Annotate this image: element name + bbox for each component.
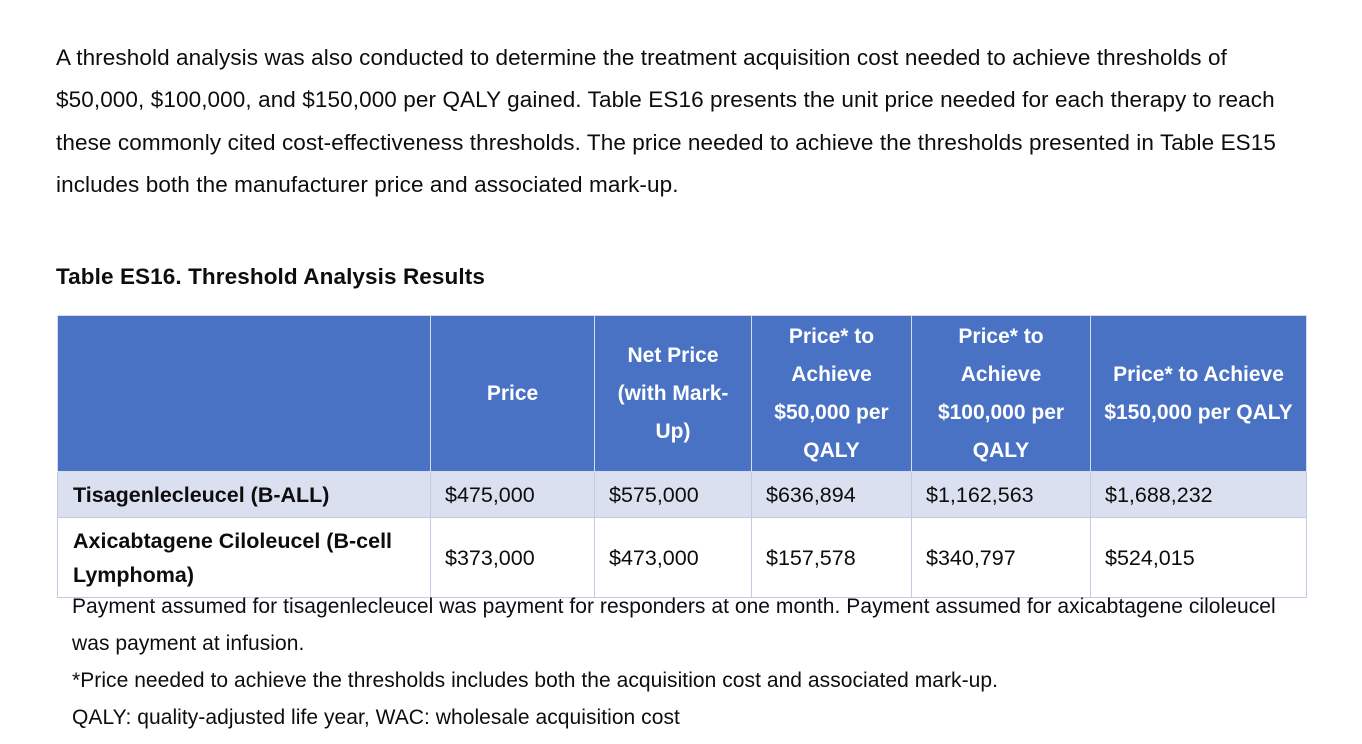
- cell-threshold-100k: $340,797: [912, 518, 1091, 598]
- intro-paragraph: A threshold analysis was also conducted …: [56, 37, 1318, 207]
- table-body: Tisagenlecleucel (B-ALL) $475,000 $575,0…: [58, 472, 1307, 598]
- cell-price: $373,000: [431, 518, 595, 598]
- cell-price: $475,000: [431, 472, 595, 518]
- cell-threshold-100k: $1,162,563: [912, 472, 1091, 518]
- cell-therapy-name: Axicabtagene Ciloleucel (B-cell Lymphoma…: [58, 518, 431, 598]
- cell-threshold-50k: $157,578: [752, 518, 912, 598]
- column-header-net-price: Net Price (with Mark-Up): [595, 316, 752, 472]
- column-header-threshold-50k: Price* to Achieve $50,000 per QALY: [752, 316, 912, 472]
- cell-net-price: $575,000: [595, 472, 752, 518]
- table-header-row: Price Net Price (with Mark-Up) Price* to…: [58, 316, 1307, 472]
- table-caption: Table ES16. Threshold Analysis Results: [56, 262, 485, 292]
- column-header-therapy: [58, 316, 431, 472]
- footnote-price-asterisk: *Price needed to achieve the thresholds …: [72, 662, 1302, 699]
- table-header: Price Net Price (with Mark-Up) Price* to…: [58, 316, 1307, 472]
- column-header-threshold-100k: Price* to Achieve $100,000 per QALY: [912, 316, 1091, 472]
- footnote-payment-assumption: Payment assumed for tisagenlecleucel was…: [72, 588, 1302, 662]
- column-header-price: Price: [431, 316, 595, 472]
- table-footnotes: Payment assumed for tisagenlecleucel was…: [72, 588, 1302, 736]
- table-row: Tisagenlecleucel (B-ALL) $475,000 $575,0…: [58, 472, 1307, 518]
- threshold-analysis-table: Price Net Price (with Mark-Up) Price* to…: [57, 315, 1307, 598]
- cell-therapy-name: Tisagenlecleucel (B-ALL): [58, 472, 431, 518]
- cell-threshold-150k: $1,688,232: [1091, 472, 1307, 518]
- column-header-threshold-150k: Price* to Achieve $150,000 per QALY: [1091, 316, 1307, 472]
- cell-net-price: $473,000: [595, 518, 752, 598]
- cell-threshold-50k: $636,894: [752, 472, 912, 518]
- footnote-abbreviations: QALY: quality-adjusted life year, WAC: w…: [72, 699, 1302, 736]
- table-row: Axicabtagene Ciloleucel (B-cell Lymphoma…: [58, 518, 1307, 598]
- cell-threshold-150k: $524,015: [1091, 518, 1307, 598]
- threshold-analysis-table-wrapper: Price Net Price (with Mark-Up) Price* to…: [57, 315, 1306, 598]
- document-page: A threshold analysis was also conducted …: [0, 0, 1362, 744]
